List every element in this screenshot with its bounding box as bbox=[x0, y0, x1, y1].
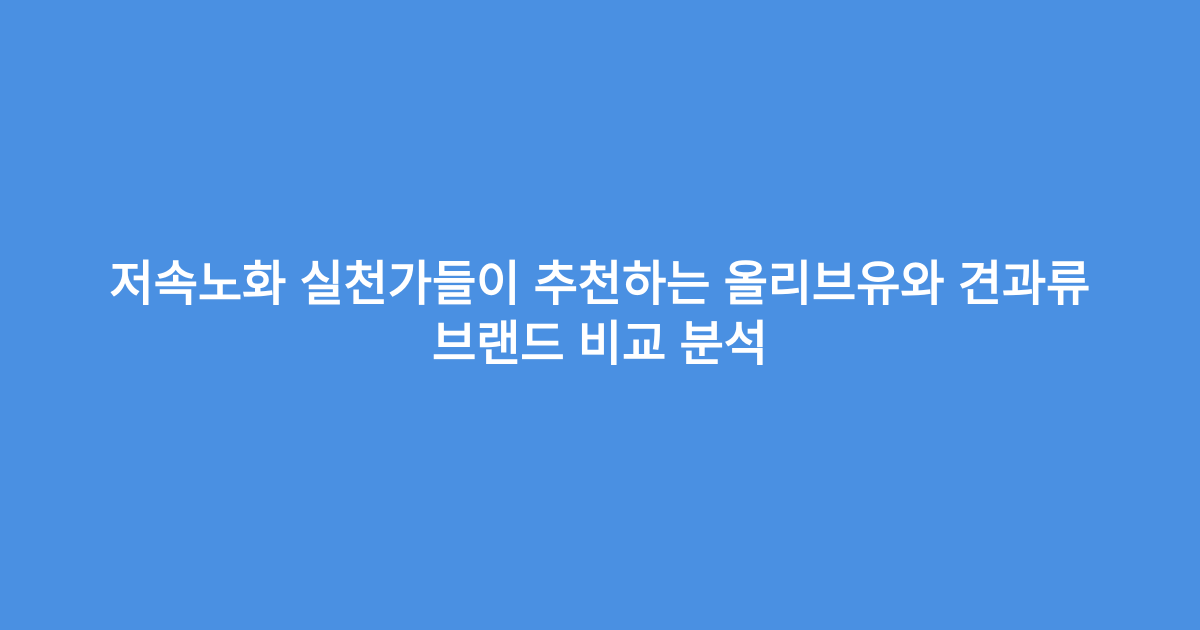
title-block: 저속노화 실천가들이 추천하는 올리브유와 견과류 브랜드 비교 분석 bbox=[60, 255, 1140, 375]
page-title: 저속노화 실천가들이 추천하는 올리브유와 견과류 브랜드 비교 분석 bbox=[60, 255, 1140, 375]
og-banner-card: 저속노화 실천가들이 추천하는 올리브유와 견과류 브랜드 비교 분석 bbox=[0, 0, 1200, 630]
